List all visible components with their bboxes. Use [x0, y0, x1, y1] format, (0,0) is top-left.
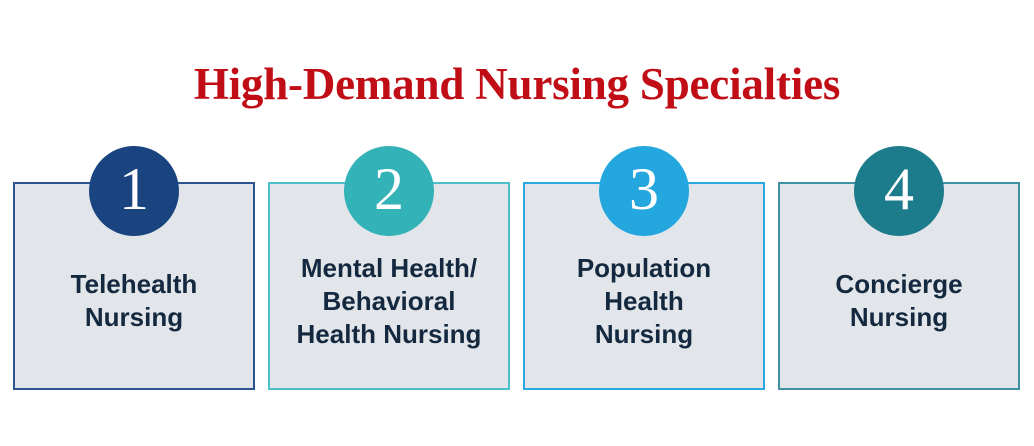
specialty-card-3[interactable]: 3 Population Health Nursing — [523, 146, 765, 392]
specialty-card-1[interactable]: 1 Telehealth Nursing — [13, 146, 255, 392]
page-title: High-Demand Nursing Specialties — [0, 58, 1034, 110]
badge-number-label-2: 2 — [374, 158, 404, 220]
number-badge-2: 2 — [344, 146, 434, 236]
badge-number-label-3: 3 — [629, 158, 659, 220]
badge-number-label-1: 1 — [119, 158, 149, 220]
specialty-card-2[interactable]: 2 Mental Health/ Behavioral Health Nursi… — [268, 146, 510, 392]
number-badge-3: 3 — [599, 146, 689, 236]
number-badge-1: 1 — [89, 146, 179, 236]
number-badge-4: 4 — [854, 146, 944, 236]
badge-number-label-4: 4 — [884, 158, 914, 220]
infographic-canvas: High-Demand Nursing Specialties 1 Telehe… — [0, 0, 1034, 446]
specialty-card-row: 1 Telehealth Nursing 2 Mental Health/ Be… — [0, 146, 1034, 396]
specialty-card-4[interactable]: 4 Concierge Nursing — [778, 146, 1020, 392]
